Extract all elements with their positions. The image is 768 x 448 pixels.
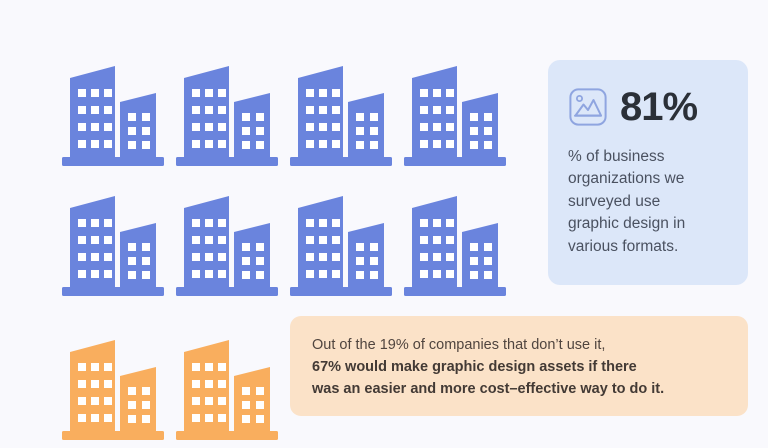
infographic-canvas: 81% % of business organizations we surve… [0,0,768,448]
stat-description-line: % of business [568,146,730,168]
stat-description-line: graphic design in [568,213,730,235]
note-line-2: 67% would make graphic design assets if … [312,356,726,378]
office-building-icon [58,188,172,304]
pictogram-row-2 [58,188,528,304]
office-building-icon [172,188,286,304]
stat-description: % of business organizations we surveyed … [568,146,730,258]
note-line-1: Out of the 19% of companies that don’t u… [312,334,726,356]
image-picture-icon [568,87,608,127]
note-card: Out of the 19% of companies that don’t u… [290,316,748,416]
office-building-icon-unfilled [58,332,172,448]
pictogram-row-1 [58,58,528,174]
office-building-icon [400,188,514,304]
office-building-icon [172,58,286,174]
office-building-icon [286,58,400,174]
office-building-icon [400,58,514,174]
office-building-icon-unfilled [172,332,286,448]
note-line-3: was an easier and more cost–effective wa… [312,378,726,400]
office-building-icon [58,58,172,174]
stat-card-header: 81% [568,80,730,134]
stat-description-line: various formats. [568,236,730,258]
stat-description-line: surveyed use [568,191,730,213]
stat-card: 81% % of business organizations we surve… [548,60,748,285]
office-building-icon [286,188,400,304]
stat-description-line: organizations we [568,168,730,190]
stat-value: 81% [620,87,697,127]
